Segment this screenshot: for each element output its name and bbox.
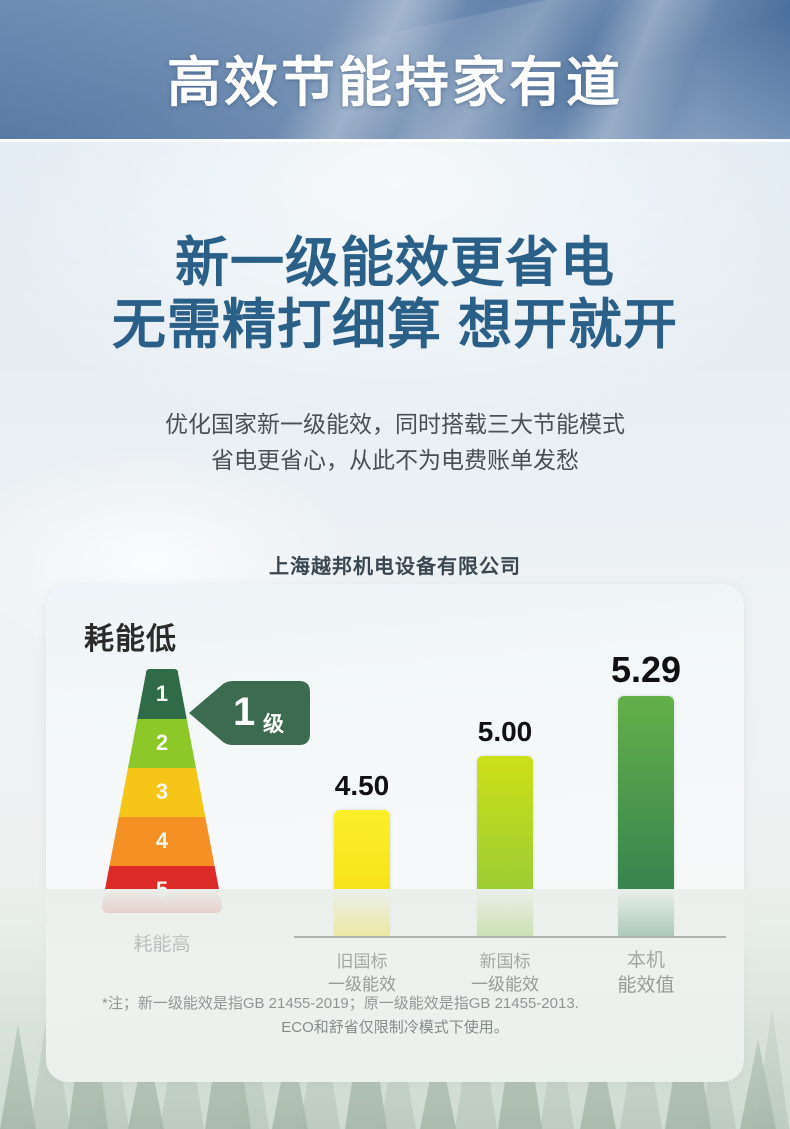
bar-value-new-standard: 5.00 [440, 716, 570, 748]
bar-value-this-unit: 5.29 [581, 649, 711, 691]
subheadline-line-1: 优化国家新一级能效，同时搭载三大节能模式 [0, 406, 790, 442]
page-subheadline: 优化国家新一级能效，同时搭载三大节能模式 省电更省心，从此不为电费账单发愁 [0, 406, 790, 478]
headline-line-2: 无需精打细算 想开就开 [0, 294, 790, 356]
subheadline-line-2: 省电更省心，从此不为电费账单发愁 [0, 442, 790, 478]
headline-line-1: 新一级能效更省电 [175, 233, 615, 293]
badge-number: 1 [233, 688, 255, 736]
bar-value-old-standard: 4.50 [297, 770, 427, 802]
page-headline: 新一级能效更省电 无需精打细算 想开就开 [0, 232, 790, 356]
badge-unit: 级 [263, 708, 284, 738]
energy-efficiency-promo-page: 高效节能持家有道 [0, 0, 790, 1129]
forest-background-image [0, 889, 790, 1129]
banner-title: 高效节能持家有道 [0, 38, 790, 117]
company-name: 上海越邦机电设备有限公司 [0, 550, 790, 579]
forest-mist-overlay [0, 889, 790, 1129]
card-title-low-consumption: 耗能低 [84, 614, 177, 658]
